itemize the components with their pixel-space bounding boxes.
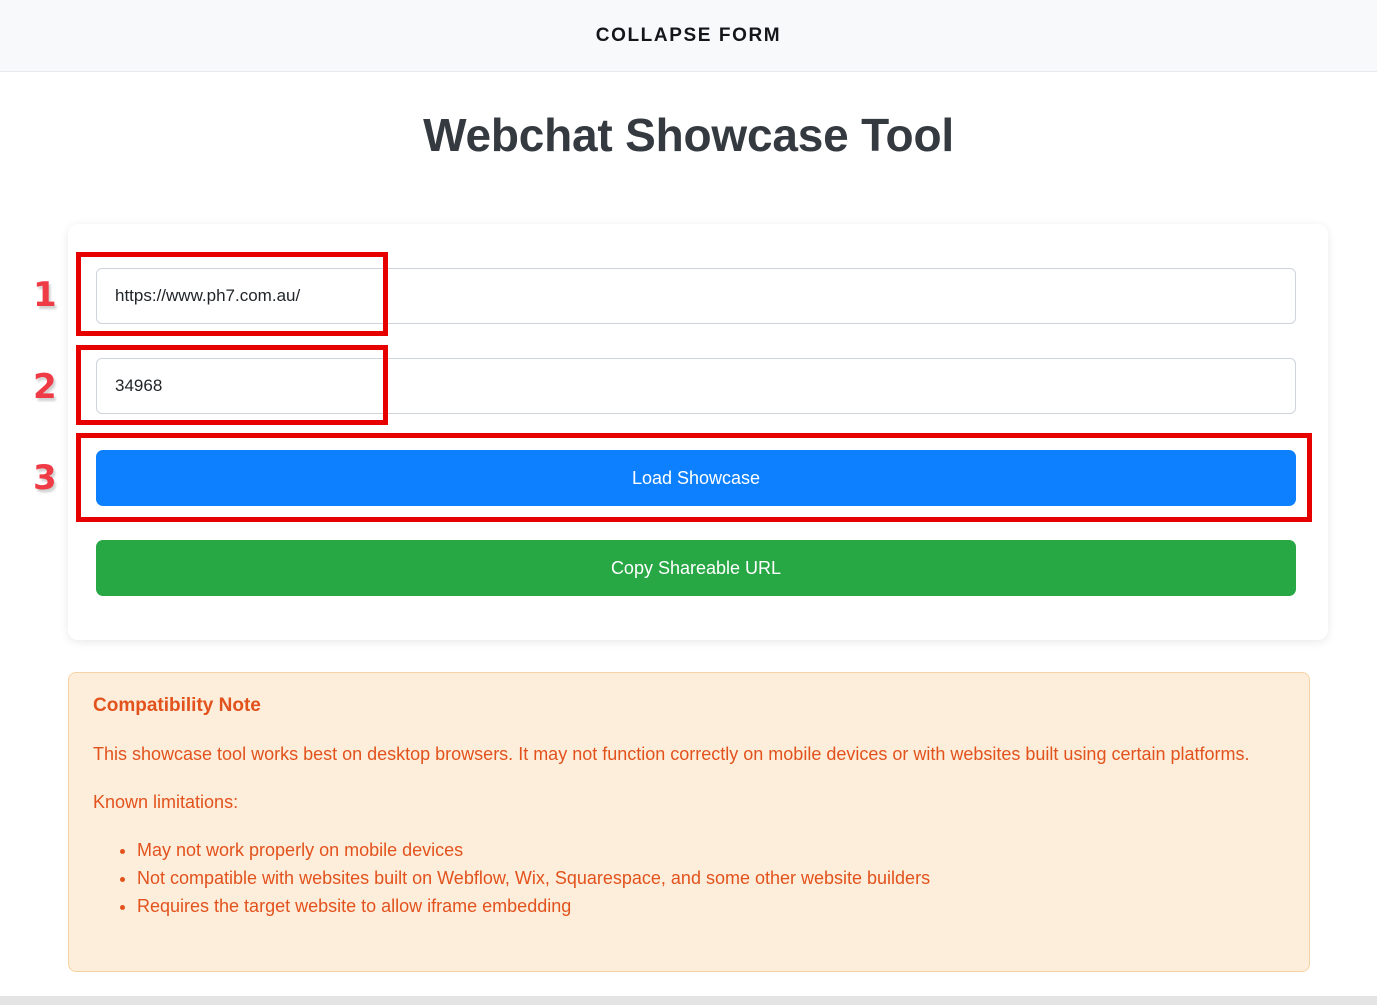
copy-shareable-url-button[interactable]: Copy Shareable URL bbox=[96, 540, 1296, 596]
annotation-number-1: 1 bbox=[33, 278, 57, 312]
list-item: Not compatible with websites built on We… bbox=[137, 865, 1285, 893]
annotation-number-3: 3 bbox=[33, 461, 57, 495]
compatibility-note-title: Compatibility Note bbox=[93, 695, 1285, 717]
collapse-form-label[interactable]: COLLAPSE FORM bbox=[596, 25, 781, 47]
compatibility-note-panel: Compatibility Note This showcase tool wo… bbox=[68, 672, 1310, 972]
list-item: Requires the target website to allow ifr… bbox=[137, 893, 1285, 921]
page-title: Webchat Showcase Tool bbox=[0, 72, 1377, 162]
known-limitations-label: Known limitations: bbox=[93, 789, 1285, 815]
top-header-bar: COLLAPSE FORM bbox=[0, 0, 1377, 72]
website-url-input[interactable] bbox=[96, 268, 1296, 324]
annotation-number-2: 2 bbox=[33, 370, 57, 404]
form-card: Load Showcase Copy Shareable URL bbox=[68, 224, 1328, 640]
compatibility-note-paragraph: This showcase tool works best on desktop… bbox=[93, 741, 1285, 767]
bottom-edge-strip bbox=[0, 996, 1377, 1005]
load-showcase-button[interactable]: Load Showcase bbox=[96, 450, 1296, 506]
showcase-id-input[interactable] bbox=[96, 358, 1296, 414]
known-limitations-list: May not work properly on mobile devices … bbox=[93, 837, 1285, 921]
list-item: May not work properly on mobile devices bbox=[137, 837, 1285, 865]
